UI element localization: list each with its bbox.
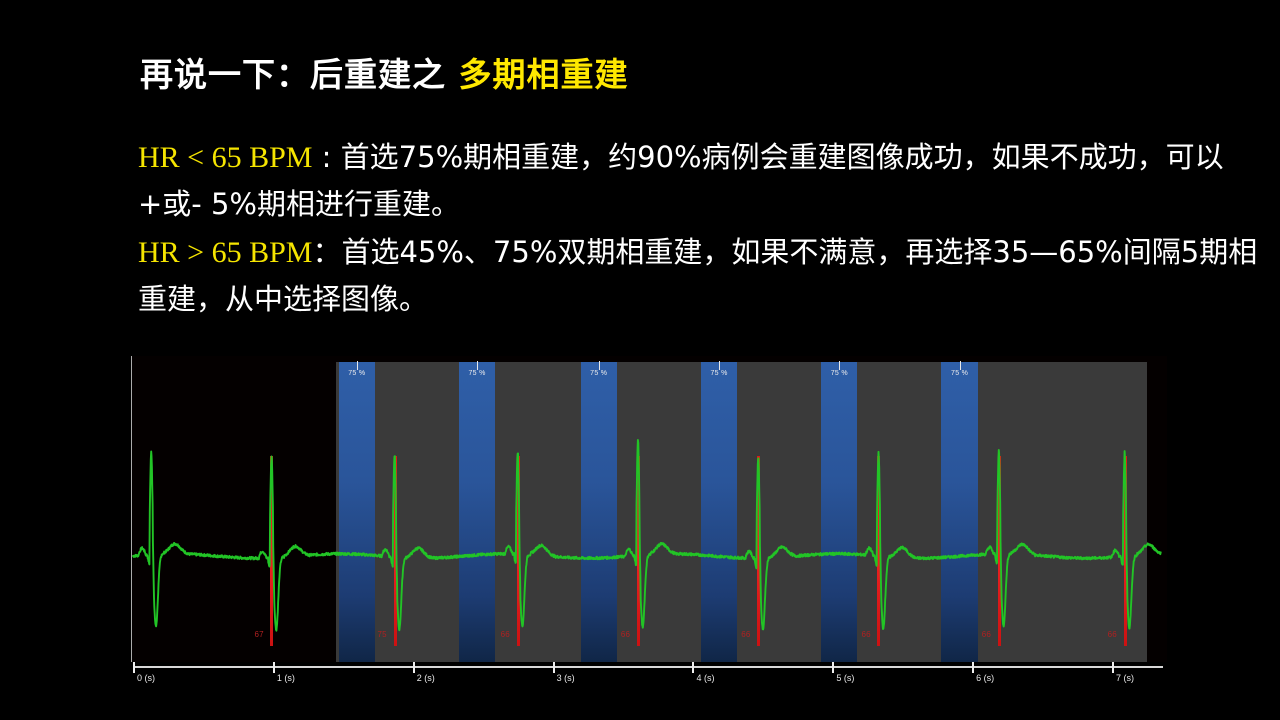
axis-label-2: 2 (s) bbox=[417, 673, 435, 683]
rr-interval-value-2: 75 bbox=[378, 630, 387, 639]
axis-label-6: 6 (s) bbox=[976, 673, 994, 683]
axis-line bbox=[133, 666, 1163, 668]
axis-tick-6 bbox=[972, 662, 974, 673]
axis-tick-0 bbox=[133, 662, 135, 673]
axis-tick-2 bbox=[413, 662, 415, 673]
ecg-figure: 75 %75 %75 %75 %75 %75 % 677566666666666… bbox=[131, 356, 1167, 694]
rr-interval-value-3: 66 bbox=[501, 630, 510, 639]
rr-interval-value-1: 67 bbox=[254, 630, 263, 639]
body-text-block: HR < 65 BPM : 首选75%期相重建，约90%病例会重建图像成功，如果… bbox=[138, 134, 1258, 324]
axis-label-4: 4 (s) bbox=[696, 673, 714, 683]
paragraph-hr-high: HR > 65 BPM：首选45%、75%双期相重建，如果不满意，再选择35—6… bbox=[138, 229, 1258, 323]
page-title-prefix: 再说一下：后重建之 bbox=[140, 55, 459, 94]
rr-interval-value-6: 66 bbox=[861, 630, 870, 639]
time-axis: 0 (s)1 (s)2 (s)3 (s)4 (s)5 (s)6 (s)7 (s) bbox=[131, 662, 1167, 694]
ecg-waveform bbox=[131, 356, 1167, 662]
axis-tick-7 bbox=[1112, 662, 1114, 673]
rr-interval-value-5: 66 bbox=[741, 630, 750, 639]
page-title-accent: 多期相重建 bbox=[459, 55, 629, 94]
axis-label-1: 1 (s) bbox=[277, 673, 295, 683]
page-title: 再说一下：后重建之 多期相重建 bbox=[140, 48, 629, 96]
axis-label-5: 5 (s) bbox=[836, 673, 854, 683]
axis-tick-1 bbox=[273, 662, 275, 673]
hr-high-label: HR > 65 BPM bbox=[138, 236, 312, 269]
axis-tick-5 bbox=[832, 662, 834, 673]
axis-label-0: 0 (s) bbox=[137, 673, 155, 683]
ecg-plot-area: 75 %75 %75 %75 %75 %75 % 677566666666666… bbox=[131, 356, 1167, 662]
rr-interval-value-7: 66 bbox=[982, 630, 991, 639]
axis-label-3: 3 (s) bbox=[557, 673, 575, 683]
rr-interval-value-4: 66 bbox=[621, 630, 630, 639]
axis-tick-4 bbox=[692, 662, 694, 673]
rr-interval-value-8: 66 bbox=[1108, 630, 1117, 639]
hr-low-label: HR < 65 BPM bbox=[138, 141, 312, 174]
axis-tick-3 bbox=[553, 662, 555, 673]
paragraph-hr-low: HR < 65 BPM : 首选75%期相重建，约90%病例会重建图像成功，如果… bbox=[138, 134, 1258, 228]
axis-label-7: 7 (s) bbox=[1116, 673, 1134, 683]
